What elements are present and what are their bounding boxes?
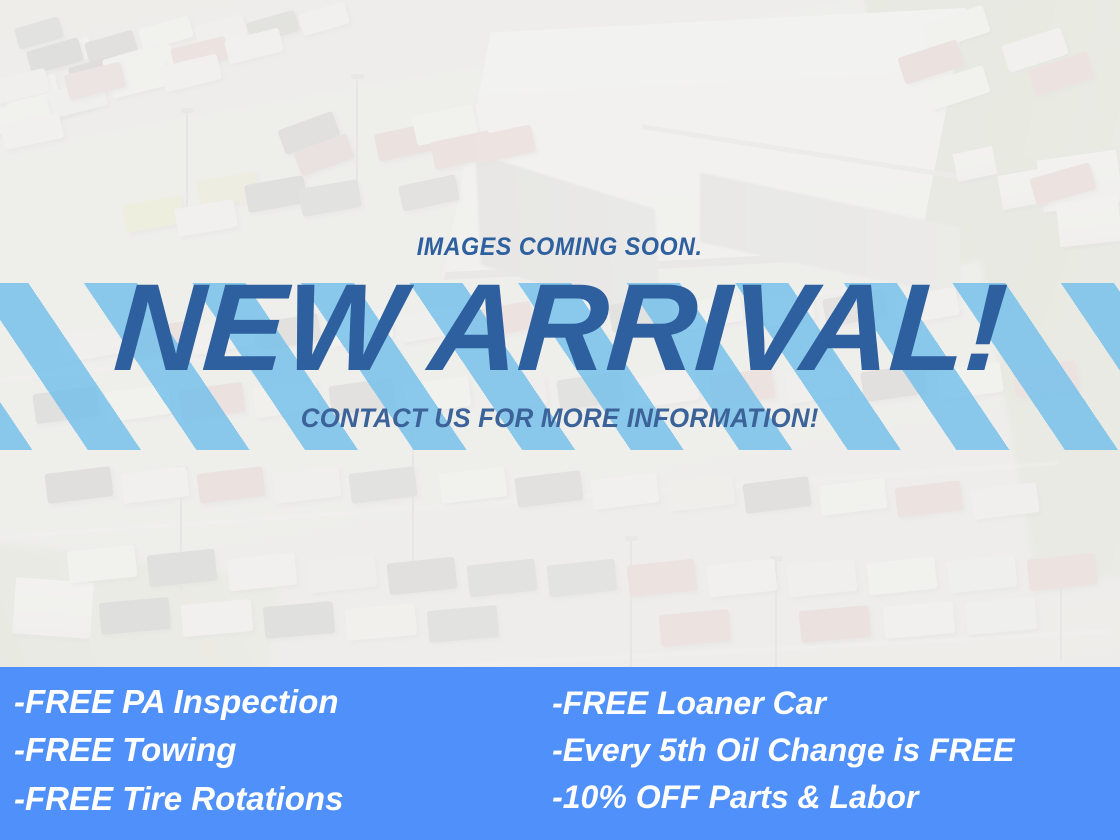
service-item: -FREE Loaner Car xyxy=(552,683,1106,724)
vehicle-listing-placeholder-image: IMAGES COMING SOON. NEW ARRIVAL! CONTACT… xyxy=(0,0,1120,840)
service-item: -Every 5th Oil Change is FREE xyxy=(552,730,1106,771)
service-item: -FREE PA Inspection xyxy=(14,681,552,723)
service-item: -FREE Tire Rotations xyxy=(14,778,552,820)
diagonal-stripe-band xyxy=(0,283,1120,450)
services-column-left: -FREE PA Inspection -FREE Towing -FREE T… xyxy=(14,681,552,820)
service-item: -FREE Towing xyxy=(14,729,552,771)
services-banner: -FREE PA Inspection -FREE Towing -FREE T… xyxy=(0,667,1120,840)
service-item: -10% OFF Parts & Labor xyxy=(552,777,1106,818)
services-column-right: -FREE Loaner Car -Every 5th Oil Change i… xyxy=(552,683,1106,818)
